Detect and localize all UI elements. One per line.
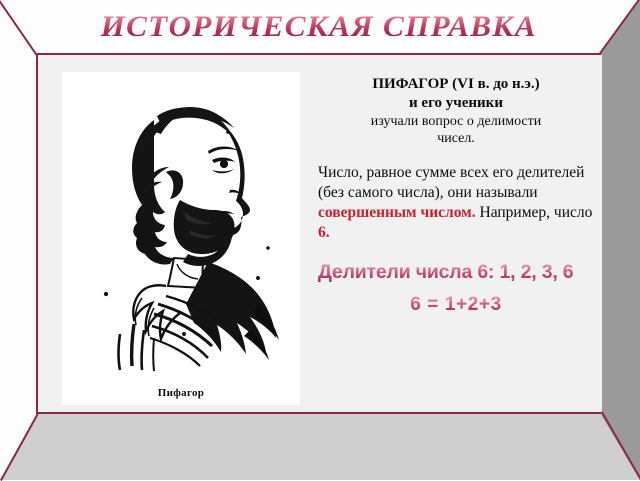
divisors-sep-2: , — [531, 261, 541, 283]
sum-expression: 6 = 1+2+3 — [318, 294, 594, 316]
heading-line-4: чисел. — [318, 130, 594, 148]
heading-line-1: ПИФАГОР (VI в. до н.э.) — [318, 75, 594, 94]
heading-line-2: и его ученики — [318, 94, 594, 113]
divisor-1: 1 — [500, 261, 511, 283]
divisor-2: 2 — [521, 261, 532, 283]
perfect-number-term: совершенным числом. — [318, 204, 476, 221]
heading-line-3: изучали вопрос о делимости — [318, 113, 594, 131]
divisors-heading: Делители числа 6: 1, 2, 3, 6 — [318, 261, 594, 283]
divisors-sep-3: , — [552, 261, 562, 283]
definition-text-part-2: Например, число — [476, 204, 593, 221]
slide-root: ИСТОРИЧЕСКАЯ СПРАВКА — [0, 0, 640, 480]
pythagoras-heading: ПИФАГОР (VI в. до н.э.) и его ученики из… — [318, 75, 594, 148]
divisor-6: 6 — [563, 261, 574, 283]
divisor-3: 3 — [542, 261, 553, 283]
portrait-figure: Пифагор — [62, 72, 300, 405]
divisors-sep-1: , — [510, 261, 520, 283]
definition-paragraph: Число, равное сумме всех его делителей (… — [318, 163, 594, 244]
text-column: ПИФАГОР (VI в. до н.э.) и его ученики из… — [318, 75, 594, 316]
example-number: 6. — [318, 224, 330, 241]
definition-text-part-1: Число, равное сумме всех его делителей (… — [318, 164, 584, 201]
divisors-label: Делители числа 6: — [318, 261, 500, 283]
content-panel: Пифагор ПИФАГОР (VI в. до н.э.) и его уч… — [38, 55, 602, 412]
portrait-caption: Пифагор — [62, 387, 300, 399]
pythagoras-engraving-icon — [62, 72, 300, 372]
